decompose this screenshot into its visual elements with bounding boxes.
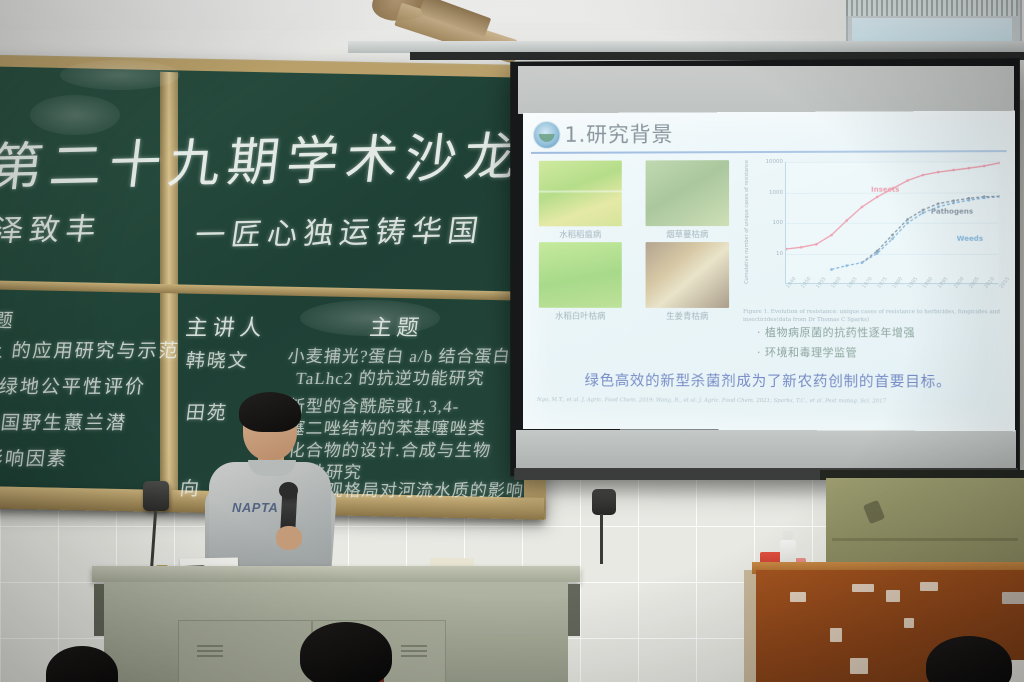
- wall-microphone-icon: [592, 489, 616, 515]
- chart-plot-area: 10000100010010InsectsPathogensWeeds: [785, 161, 999, 284]
- photo-rice-bacterial-blight: [539, 242, 622, 308]
- chart-xtick-label: 2015: [999, 276, 1012, 290]
- microphone-head: [279, 482, 298, 499]
- presenter-hand: [276, 526, 302, 550]
- chart-legend-insects: Insects: [871, 186, 899, 194]
- microphone-cord: [600, 514, 603, 564]
- chart-line-pathogens: [862, 196, 1000, 262]
- chart-x-ticks: 1940195019551960196519701975198019851990…: [785, 286, 999, 308]
- slide-highlight: 绿色高效的新型杀菌剂成为了新农药创制的首要目标。: [523, 369, 1015, 392]
- slide-bullet-1: · 环境和毒理学监管: [757, 344, 857, 360]
- photo-caption-1: 烟草蔓枯病: [646, 228, 730, 240]
- bullet-marker: ·: [757, 326, 765, 339]
- blackboard-divider: [160, 72, 178, 492]
- resistance-evolution-chart: Cumulative number of unique cases of res…: [743, 157, 1003, 310]
- slide-title: 1.研究背景: [564, 118, 673, 148]
- bullet-text: 环境和毒理学监管: [765, 346, 857, 359]
- photo-tobacco-blight: [646, 160, 730, 226]
- lectern-door: [178, 620, 312, 682]
- photo-caption-2: 水稻白叶枯病: [539, 310, 622, 322]
- chart-ytick-label: 100: [772, 220, 782, 226]
- wall-microphone-icon: [143, 481, 169, 511]
- photo-rice-blast: [539, 161, 622, 227]
- figure-caption: Figure 1. Evolution of resistance: uniqu…: [743, 308, 1005, 325]
- lectern-top: [92, 566, 580, 582]
- projector-vent-light: [852, 18, 1012, 42]
- chart-ytick-label: 10000: [766, 159, 783, 165]
- slide-bullet-0: · 植物病原菌的抗药性逐年增强: [757, 324, 915, 340]
- projector-vent-grille: [846, 0, 1018, 16]
- cabinet-shelf-line: [832, 538, 1018, 541]
- chart-legend-pathogens: Pathogens: [931, 208, 973, 216]
- slide-title-rule: [531, 150, 1007, 154]
- chart-ylabel: Cumulative number of unique cases of res…: [744, 184, 750, 284]
- slide-references: Ngo, M.T., et al. J. Agric. Food Chem. 2…: [537, 397, 1003, 405]
- presentation-slide: 1.研究背景 水稻稻瘟病 烟草蔓枯病 水稻白叶枯病 生姜青枯病 Cumulati…: [523, 111, 1015, 432]
- chart-legend-weeds: Weeds: [957, 235, 983, 243]
- projection-screen-top-band: [518, 66, 1014, 114]
- chart-line-weeds: [831, 197, 999, 270]
- audience-head: [300, 622, 392, 682]
- chart-ytick-label: 10: [776, 250, 783, 256]
- cabinet-shelf: [826, 478, 1024, 574]
- photo-caption-3: 生姜青枯病: [646, 310, 730, 322]
- photo-ginger-wilt: [646, 242, 730, 308]
- bullet-marker: ·: [757, 346, 765, 359]
- chart-ytick-label: 1000: [769, 189, 783, 195]
- university-seal-icon: [533, 121, 561, 149]
- presenter-hair: [239, 392, 301, 432]
- chart-series-layer: [786, 161, 1000, 284]
- photo-caption-0: 水稻稻瘟病: [539, 228, 622, 240]
- classroom-scene: 第二十九期学术沙龙 泽致丰 一匠心独运铸华国 题 上 的应用研究与示范 以绿地公…: [0, 0, 1024, 682]
- bullet-text: 植物病原菌的抗药性逐年增强: [765, 326, 915, 339]
